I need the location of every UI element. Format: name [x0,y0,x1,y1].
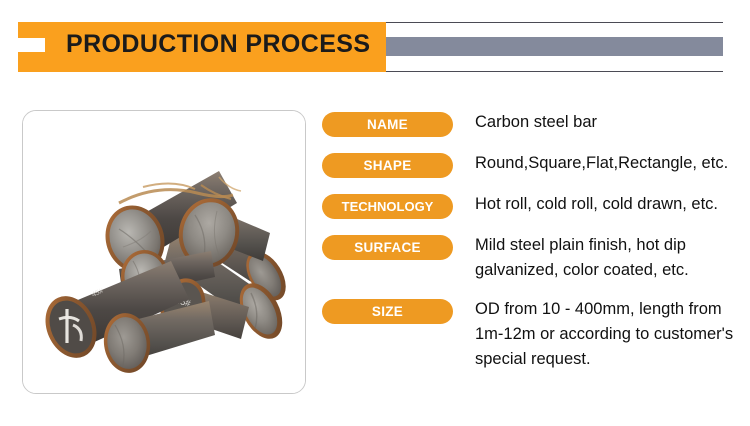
header-rule-top-line [375,22,723,23]
spec-label-technology: TECHNOLOGY [322,194,453,219]
product-photo-card: 45# S 18N 45# [22,110,306,394]
spec-label-surface: SURFACE [322,235,453,260]
spec-row-shape: SHAPE Round,Square,Flat,Rectangle, etc. [322,151,742,178]
spec-label-size: SIZE [322,299,453,324]
steel-round-bars-photo: 45# S 18N 45# [23,111,305,393]
spec-row-technology: TECHNOLOGY Hot roll, cold roll, cold dra… [322,192,742,219]
spec-row-surface: SURFACE Mild steel plain finish, hot dip… [322,233,742,283]
header-title-notch [18,38,45,52]
header-rule-decoration [375,22,723,72]
page-title: PRODUCTION PROCESS [66,30,370,59]
product-spec-list: NAME Carbon steel bar SHAPE Round,Square… [322,110,742,372]
header-rule-bottom-line [375,71,723,72]
spec-value-technology: Hot roll, cold roll, cold drawn, etc. [475,192,742,217]
page-header: PRODUCTION PROCESS [0,0,750,90]
header-rule-gray-bar [375,37,723,56]
spec-label-name: NAME [322,112,453,137]
spec-value-surface: Mild steel plain finish, hot dip galvani… [475,233,742,283]
spec-value-size: OD from 10 - 400mm, length from 1m-12m o… [475,297,742,372]
spec-label-shape: SHAPE [322,153,453,178]
spec-row-name: NAME Carbon steel bar [322,110,742,137]
spec-value-name: Carbon steel bar [475,110,742,135]
spec-row-size: SIZE OD from 10 - 400mm, length from 1m-… [322,297,742,372]
spec-value-shape: Round,Square,Flat,Rectangle, etc. [475,151,742,176]
